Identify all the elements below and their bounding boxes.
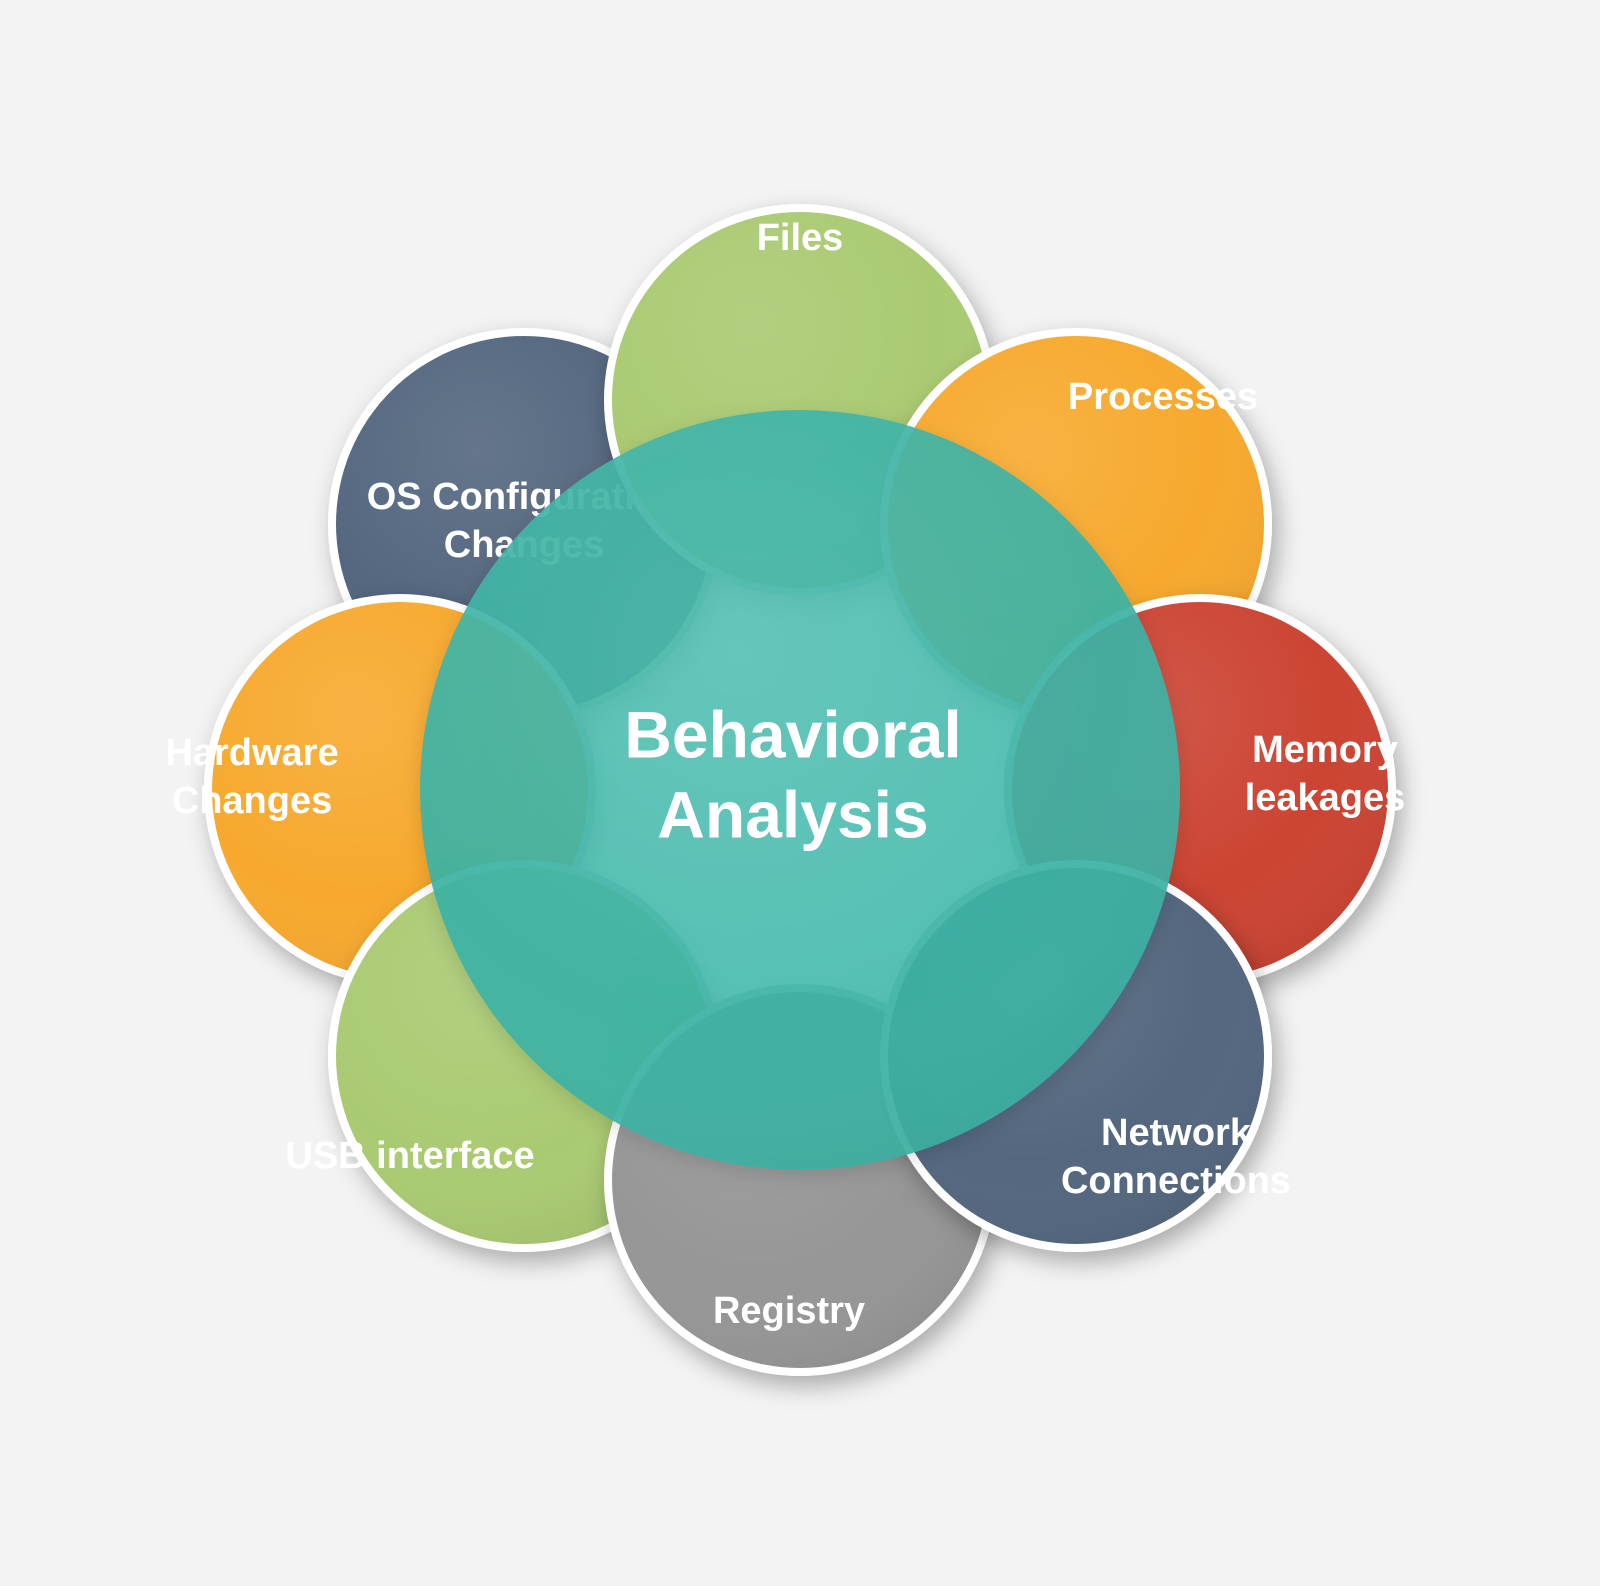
diagram-canvas: OS Configuration Changes Files Processes…: [0, 0, 1600, 1586]
petal-label-line1: Memory: [1252, 729, 1398, 771]
petal-label-line2: Connections: [1061, 1160, 1291, 1202]
petal-label-line1: USB interface: [285, 1135, 534, 1177]
petal-label-line2: Changes: [172, 780, 332, 822]
petal-label-line1: Processes: [1068, 376, 1258, 418]
petal-label-line1: Files: [757, 217, 844, 259]
center-behavioral-analysis[interactable]: Behavioral Analysis: [420, 410, 1180, 1170]
petal-label-line2: leakages: [1245, 777, 1406, 819]
petal-label-line1: Registry: [713, 1290, 865, 1332]
center-label-line2: Analysis: [657, 777, 928, 851]
petal-label-line1: Network: [1101, 1112, 1252, 1154]
diagram-svg: OS Configuration Changes Files Processes…: [0, 0, 1600, 1586]
petal-label-line1: Hardware: [165, 732, 338, 774]
center-label-line1: Behavioral: [624, 697, 961, 771]
